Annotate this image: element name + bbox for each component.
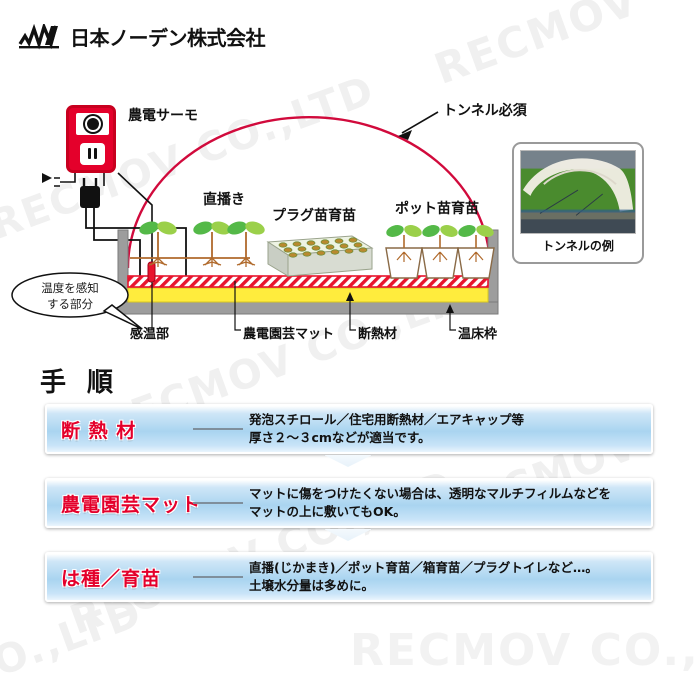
label-frame: 温床枠 <box>458 323 497 342</box>
tunnel-photo <box>520 150 636 234</box>
row-body-sowing: 直播(じかまき)／ポット育苗／箱育苗／プラグトイレなど…。 土壌水分量は多めに。 <box>249 559 598 595</box>
chevron-down-icon <box>324 455 372 467</box>
row-key-sowing: は種／育苗 <box>47 564 197 591</box>
plug-cord-left <box>60 172 75 182</box>
row-body-line-2: 土壌水分量は多めに。 <box>249 577 598 595</box>
label-thermostat: 農電サーモ <box>128 105 198 125</box>
page-root: RECMOV RECMOV CO.,LTD RECMOV CO.,LTD REC… <box>0 0 700 700</box>
label-plug-tray: プラグ苗育苗 <box>272 205 356 225</box>
row-connector-line <box>193 576 243 578</box>
outlet-socket-icon <box>80 143 105 165</box>
label-pot-seedling: ポット苗育苗 <box>395 198 479 218</box>
plug-icon <box>42 173 52 183</box>
bed-frame-bottom <box>118 302 498 314</box>
row-body-mat: マットに傷をつけたくない場合は、透明なマルチフィルムなどを マットの上に敷いても… <box>249 485 611 521</box>
dial-knob-icon[interactable] <box>87 118 99 130</box>
callout-line-2: する部分 <box>30 297 110 313</box>
seedling-group-direct-sowing <box>138 219 267 267</box>
row-body-line-2: マットの上に敷いてもOK。 <box>249 503 611 521</box>
thermostat-device[interactable] <box>66 105 116 173</box>
row-key-mat: 農電園芸マット <box>47 490 197 517</box>
row-body-line-2: 厚さ２～３cmなどが適当です。 <box>249 429 524 447</box>
pot-seedling-group <box>385 223 496 278</box>
watermark: RECMOV CO.,LTD <box>350 625 700 676</box>
callout-line-1: 温度を感知 <box>30 281 110 297</box>
photo-caption: トンネルの例 <box>520 237 636 254</box>
label-direct-sowing: 直播き <box>203 189 245 209</box>
label-sensor: 感温部 <box>130 323 169 342</box>
thermostat-dial[interactable] <box>76 113 109 135</box>
row-body-line-1: マットに傷をつけたくない場合は、透明なマルチフィルムなどを <box>249 485 611 503</box>
plug-pins-icon <box>84 178 96 186</box>
tunnel-photo-art <box>521 151 635 233</box>
procedure-row-mat[interactable]: 農電園芸マット マットに傷をつけたくない場合は、透明なマルチフィルムなどを マッ… <box>45 478 653 528</box>
procedure-title: 手 順 <box>40 362 119 399</box>
row-body-line-1: 発泡スチロール／住宅用断熱材／エアキャップ等 <box>249 411 524 429</box>
label-tunnel-required: トンネル必須 <box>443 100 527 120</box>
plug-body-icon <box>80 186 100 208</box>
row-connector-line <box>193 428 243 430</box>
row-body-line-1: 直播(じかまき)／ポット育苗／箱育苗／プラグトイレなど…。 <box>249 559 598 577</box>
insulation-layer <box>128 288 488 302</box>
plug-prongs-icon <box>54 178 60 186</box>
label-mat: 農電園芸マット <box>243 323 334 342</box>
row-body-insulation: 発泡スチロール／住宅用断熱材／エアキャップ等 厚さ２～３cmなどが適当です。 <box>249 411 524 447</box>
procedure-row-sowing[interactable]: は種／育苗 直播(じかまき)／ポット育苗／箱育苗／プラグトイレなど…。 土壌水分… <box>45 552 653 602</box>
tunnel-arrow-line <box>402 112 438 133</box>
row-key-insulation: 断 熱 材 <box>47 416 197 443</box>
procedure-row-insulation[interactable]: 断 熱 材 発泡スチロール／住宅用断熱材／エアキャップ等 厚さ２～３cmなどが適… <box>45 404 653 454</box>
tunnel-example-card: トンネルの例 <box>512 142 644 264</box>
sensor-callout-text: 温度を感知 する部分 <box>30 281 110 312</box>
row-connector-line <box>193 502 243 504</box>
plug-tray <box>268 236 372 276</box>
label-insulation: 断熱材 <box>358 323 397 342</box>
